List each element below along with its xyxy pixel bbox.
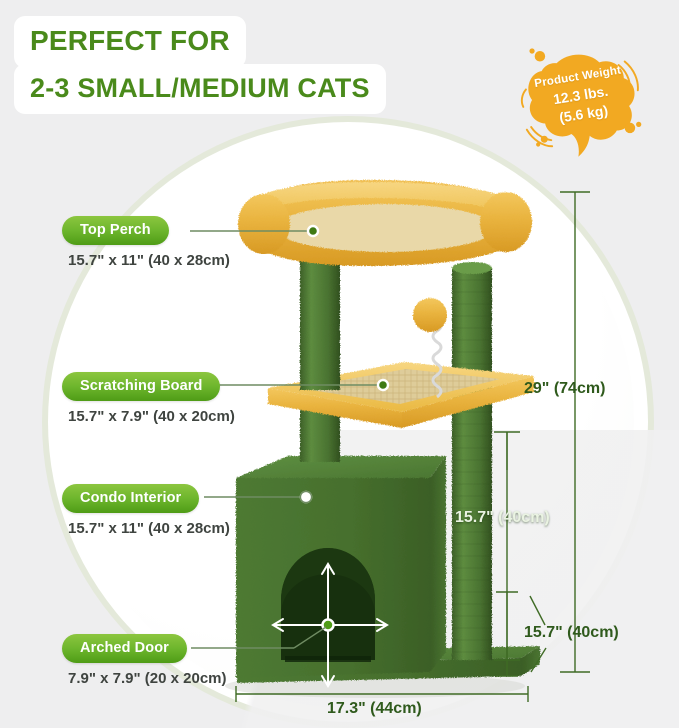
upper-left-post [300, 256, 340, 390]
pompom-ball [413, 298, 447, 332]
dimension-base-height-label: 15.7" (40cm) [524, 624, 619, 642]
callout-arched-door-title[interactable]: Arched Door [62, 634, 187, 663]
callout-scratching-board-dimensions: 15.7" x 7.9" (40 x 20cm) [68, 408, 235, 425]
dimension-total-height-label: 29" (74cm) [524, 380, 605, 398]
callout-top-perch-dimensions: 15.7" x 11" (40 x 28cm) [68, 252, 230, 269]
dimension-base-width-label: 17.3" (44cm) [327, 700, 422, 718]
callout-scratching-board[interactable]: Scratching Board 15.7" x 7.9" (40 x 20cm… [62, 372, 235, 425]
callout-condo-interior[interactable]: Condo Interior 15.7" x 11" (40 x 28cm) [62, 484, 230, 537]
right-scratching-post [452, 262, 492, 660]
callout-arched-door[interactable]: Arched Door 7.9" x 7.9" (20 x 20cm) [62, 634, 227, 687]
top-perch [238, 180, 532, 266]
dimension-post-height-label: 15.7" (40cm) [455, 509, 550, 527]
base-height-leader [530, 596, 545, 625]
callout-top-perch-title[interactable]: Top Perch [62, 216, 169, 245]
callout-arched-door-dimensions: 7.9" x 7.9" (20 x 20cm) [68, 670, 227, 687]
callout-condo-interior-title[interactable]: Condo Interior [62, 484, 199, 513]
cat-tree-illustration [0, 0, 679, 728]
infographic-canvas: PERFECT FOR 2-3 SMALL/MEDIUM CATS [0, 0, 679, 728]
callout-condo-interior-dimensions: 15.7" x 11" (40 x 28cm) [68, 520, 230, 537]
callout-top-perch[interactable]: Top Perch 15.7" x 11" (40 x 28cm) [62, 216, 230, 269]
condo-box [236, 456, 446, 678]
callout-scratching-board-title[interactable]: Scratching Board [62, 372, 220, 401]
